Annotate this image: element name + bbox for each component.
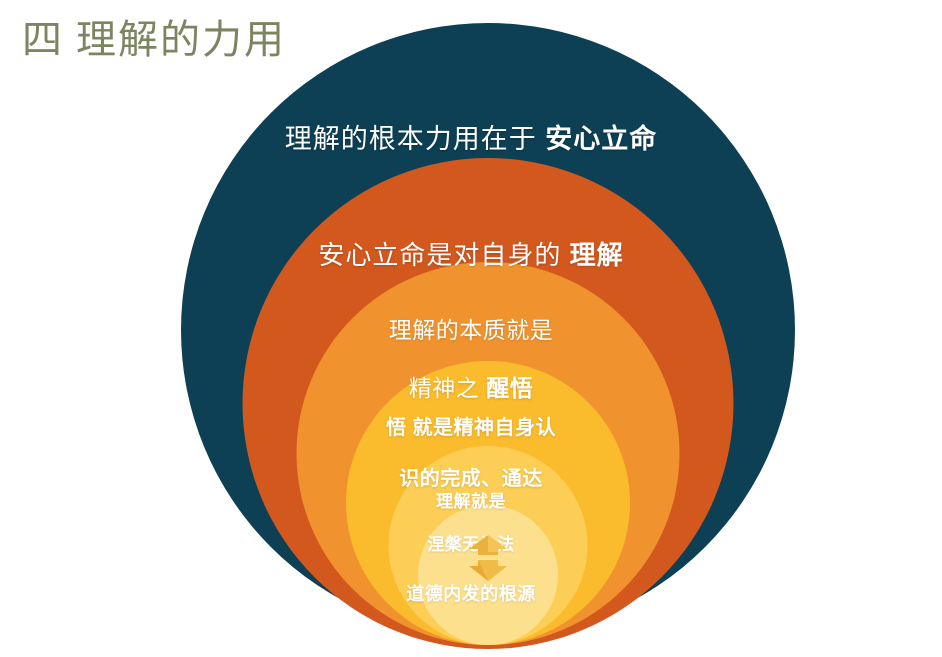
slide-canvas: 四 理解的力用 理解的根本力用在于 安心立命 安心立命是对自身的 理解 理解的本… bbox=[0, 0, 942, 657]
double-arrow-up-down-icon bbox=[457, 533, 519, 583]
page-title: 四 理解的力用 bbox=[22, 18, 286, 62]
